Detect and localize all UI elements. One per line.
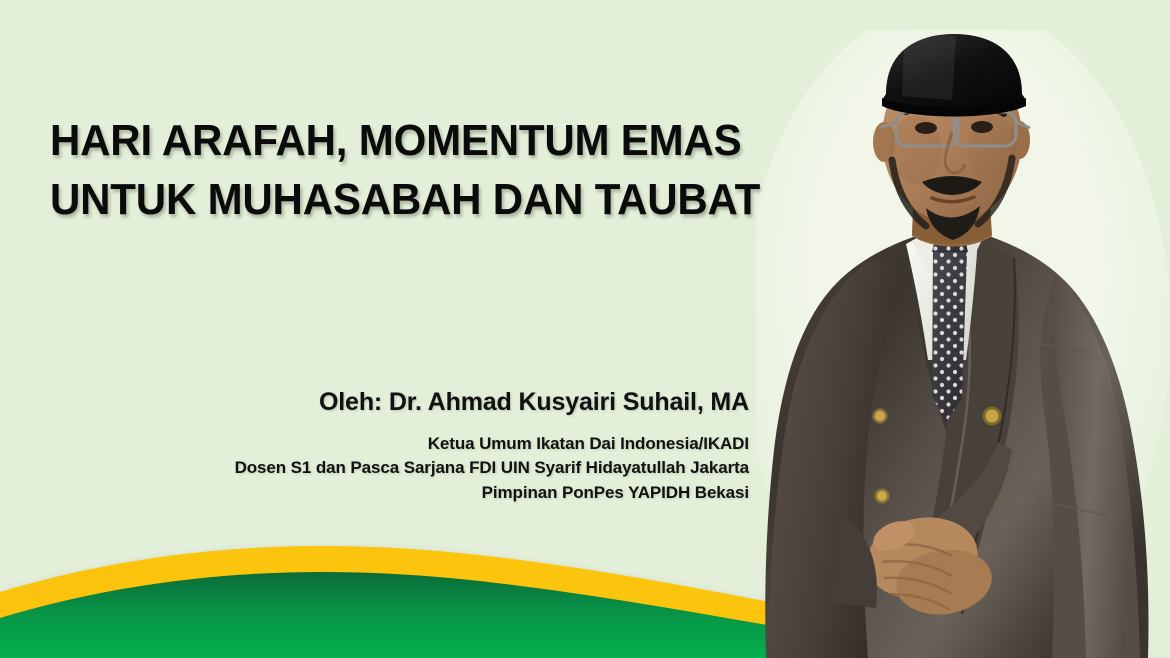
title-line-2: UNTUK MUHASABAH DAN TAUBAT (50, 171, 747, 230)
wave-band-green (0, 572, 1170, 658)
portrait-halo (756, 30, 1170, 658)
speaker-credential-2: Dosen S1 dan Pasca Sarjana FDI UIN Syari… (120, 456, 749, 481)
presentation-slide: HARI ARAFAH, MOMENTUM EMAS UNTUK MUHASAB… (0, 0, 1170, 658)
portrait-suit (765, 226, 1148, 658)
speaker-name: Oleh: Dr. Ahmad Kusyairi Suhail, MA (120, 386, 749, 419)
speaker-credential-3: Pimpinan PonPes YAPIDH Bekasi (120, 481, 749, 506)
portrait-hands (830, 442, 1012, 620)
portrait-shirt (906, 224, 982, 360)
slide-title: HARI ARAFAH, MOMENTUM EMAS UNTUK MUHASAB… (50, 112, 780, 229)
portrait-neck (912, 180, 992, 247)
portrait-head (873, 54, 1030, 240)
speaker-portrait (756, 30, 1170, 658)
glasses-icon (880, 112, 1030, 146)
wave-decoration (0, 0, 1170, 658)
wave-band-yellow (0, 546, 1170, 658)
songkok-cap-icon (882, 34, 1026, 117)
suit-buttons (873, 407, 1002, 508)
speaker-credit-block: Oleh: Dr. Ahmad Kusyairi Suhail, MA Ketu… (120, 386, 749, 505)
portrait-tie (926, 222, 976, 432)
title-line-1: HARI ARAFAH, MOMENTUM EMAS (50, 112, 747, 171)
speaker-credential-1: Ketua Umum Ikatan Dai Indonesia/IKADI (120, 432, 749, 457)
